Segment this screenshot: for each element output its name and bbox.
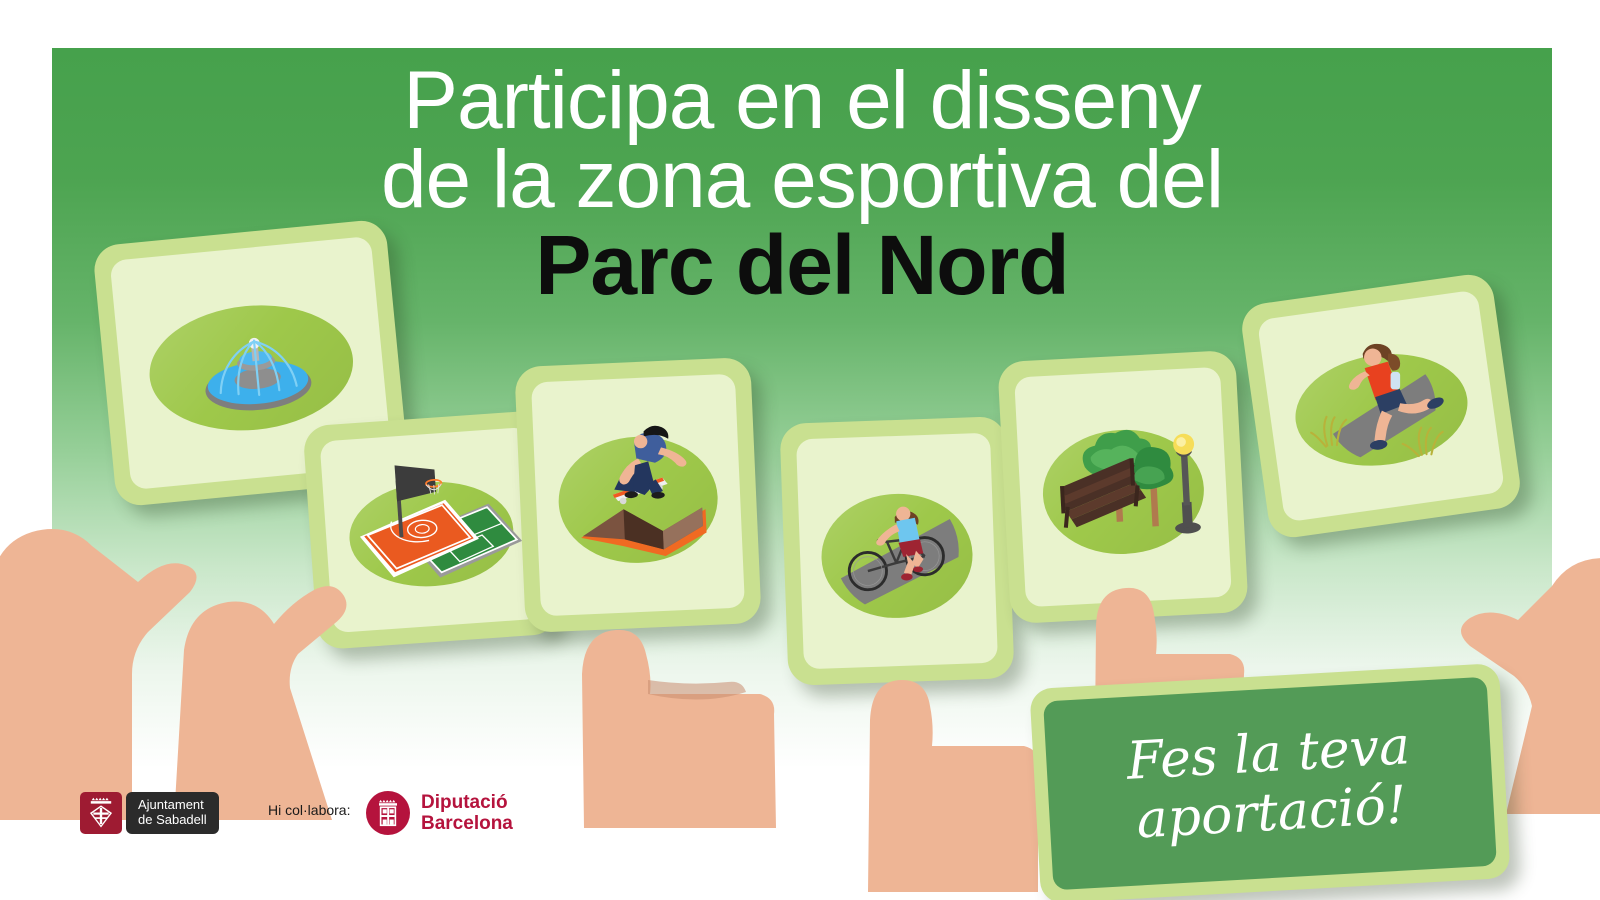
- hand-pointing-courts: [150, 490, 480, 820]
- footer-logos: Ajuntament de Sabadell Hi col·labora:: [0, 780, 1600, 860]
- ajuntament-line-2: de Sabadell: [138, 812, 207, 827]
- ajuntament-line-1: Ajuntament: [138, 797, 207, 812]
- ajuntament-logo[interactable]: Ajuntament de Sabadell: [80, 792, 219, 834]
- diputacio-line-1: Diputació: [421, 792, 513, 813]
- diputacio-logo[interactable]: Diputació Barcelona: [366, 788, 513, 838]
- poster-root: Participa en el disseny de la zona espor…: [0, 0, 1600, 900]
- diputacio-nameplate: Diputació Barcelona: [421, 792, 513, 834]
- ajuntament-nameplate: Ajuntament de Sabadell: [126, 792, 219, 834]
- diputacio-line-2: Barcelona: [421, 813, 513, 834]
- runner-icon: [1278, 316, 1485, 500]
- sabadell-crest-icon: [80, 792, 122, 834]
- crest-shield-icon: [84, 796, 118, 830]
- diputacio-emblem-icon: [366, 791, 410, 835]
- collaborator-label: Hi col·labora:: [268, 802, 350, 818]
- diputacio-shield-icon: [370, 795, 406, 831]
